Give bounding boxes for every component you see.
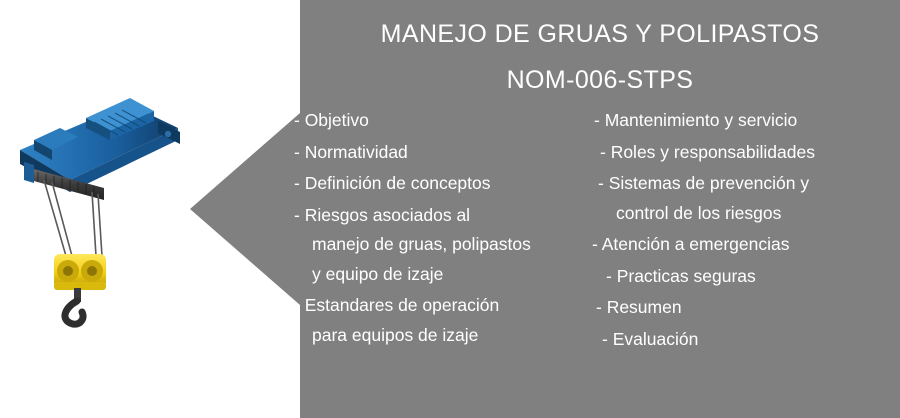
list-item-label: - Definición de conceptos — [294, 173, 491, 193]
list-item: - Mantenimiento y servicio — [590, 112, 900, 130]
list-item-label: - Riesgos asociados al — [294, 205, 470, 225]
list-item-label-line2: para equipos de izaje — [294, 327, 582, 345]
list-item-label: - Resumen — [596, 297, 682, 317]
list-item: - Practicas seguras — [590, 268, 900, 286]
list-item-label: - Practicas seguras — [606, 266, 756, 286]
topics-right-column: - Mantenimiento y servicio - Roles y res… — [582, 112, 900, 362]
electric-wire-rope-hoist-image — [8, 88, 193, 328]
list-item: - Riesgos asociados al manejo de gruas, … — [294, 207, 582, 284]
list-item-label: - Atención a emergencias — [592, 234, 789, 254]
list-item: - Atención a emergencias — [590, 236, 900, 254]
list-item-label: - Sistemas de prevención y — [598, 173, 809, 193]
list-item: - Resumen — [590, 299, 900, 317]
list-item-label-line3: y equipo de izaje — [294, 266, 582, 284]
slide-canvas: MANEJO DE GRUAS Y POLIPASTOS NOM-006-STP… — [0, 0, 900, 418]
list-item-label: - Estandares de operación — [294, 295, 499, 315]
list-item-label: - Mantenimiento y servicio — [594, 110, 797, 130]
panel-content: MANEJO DE GRUAS Y POLIPASTOS NOM-006-STP… — [190, 0, 900, 418]
hoist-hook-block — [54, 254, 106, 324]
list-item-label-line2: control de los riesgos — [598, 205, 900, 223]
topics-columns: - Objetivo - Normatividad - Definición d… — [290, 112, 900, 362]
title-block: MANEJO DE GRUAS Y POLIPASTOS NOM-006-STP… — [300, 18, 900, 98]
list-item: - Normatividad — [294, 144, 582, 162]
list-item-label: - Roles y responsabilidades — [600, 142, 815, 162]
list-item: - Estandares de operación para equipos d… — [294, 297, 582, 344]
list-item-label: - Objetivo — [294, 110, 369, 130]
page-title: MANEJO DE GRUAS Y POLIPASTOS — [300, 18, 900, 52]
list-item-label: - Normatividad — [294, 142, 408, 162]
list-item: - Sistemas de prevención y control de lo… — [590, 175, 900, 222]
list-item: - Roles y responsabilidades — [590, 144, 900, 162]
topics-left-column: - Objetivo - Normatividad - Definición d… — [290, 112, 582, 362]
list-item: - Objetivo — [294, 112, 582, 130]
list-item-label-line2: manejo de gruas, polipastos — [294, 236, 582, 254]
page-subtitle: NOM-006-STPS — [300, 64, 900, 98]
list-item: - Evaluación — [590, 331, 900, 349]
list-item: - Definición de conceptos — [294, 175, 582, 193]
list-item-label: - Evaluación — [602, 329, 698, 349]
